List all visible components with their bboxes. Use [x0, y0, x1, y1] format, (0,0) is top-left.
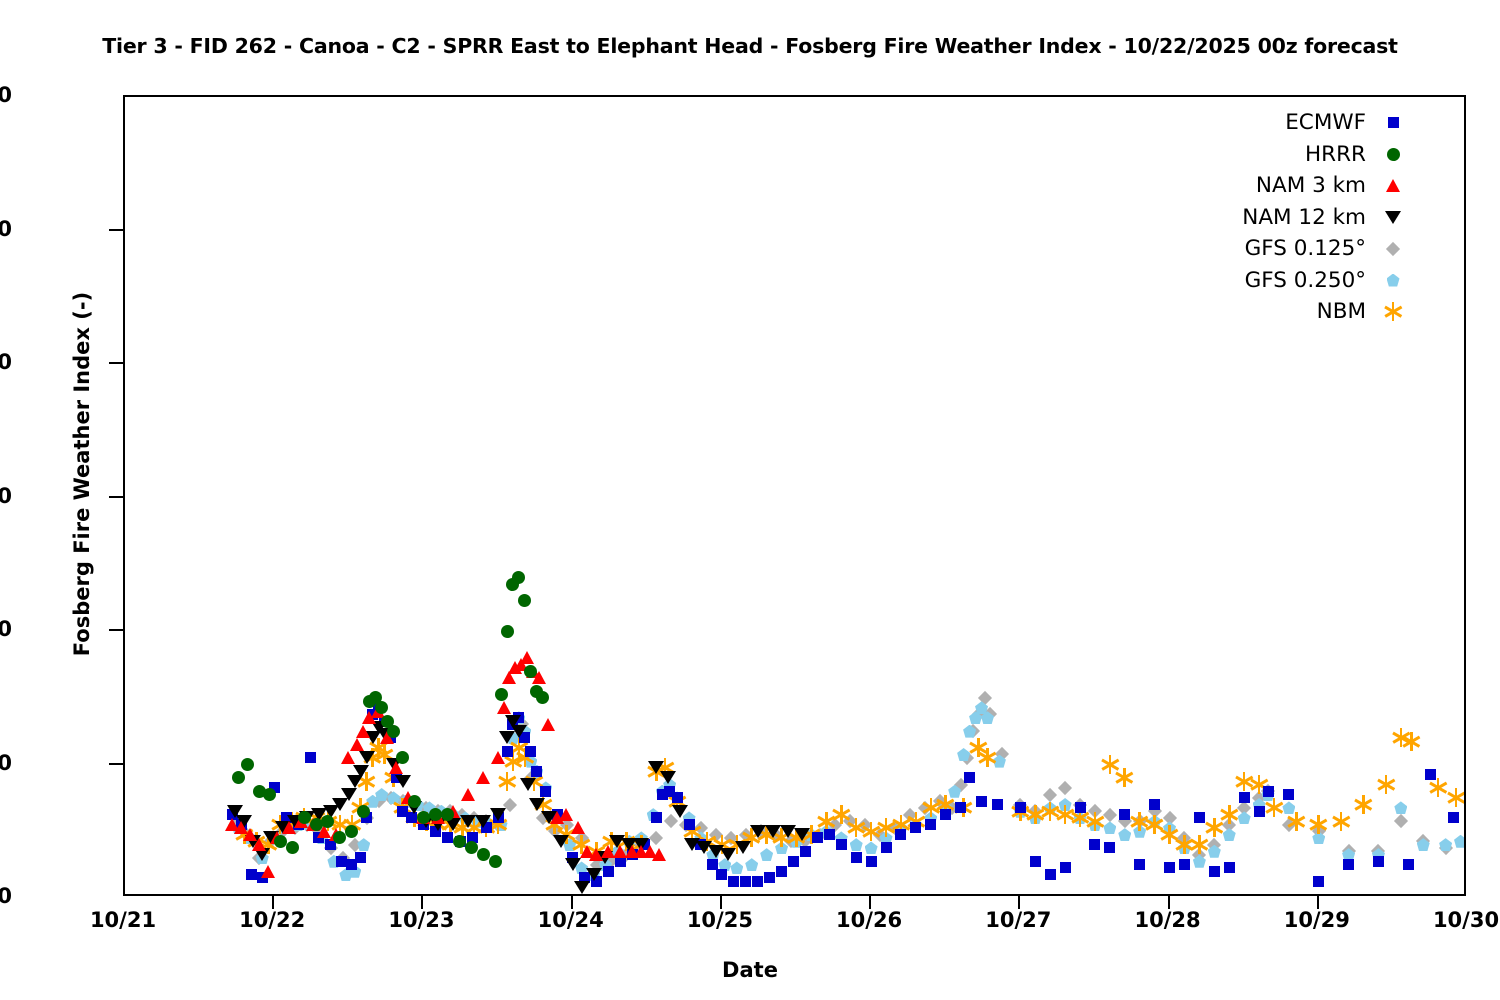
legend-label: HRRR	[1305, 142, 1366, 167]
data-point	[495, 688, 508, 701]
x-tick-mark	[421, 896, 423, 909]
triangle-down-icon	[1385, 211, 1401, 224]
legend-label: NBM	[1317, 299, 1366, 324]
legend-marker-diamond-icon	[1366, 238, 1420, 260]
y-axis-label: Fosberg Fire Weather Index (-)	[70, 74, 94, 874]
legend-item-nam-12-km[interactable]: NAM 12 km	[1150, 203, 1420, 232]
data-point	[241, 758, 254, 771]
legend-marker-square-icon	[1366, 112, 1420, 134]
x-tick-mark	[272, 896, 274, 909]
triangle-up-icon	[1386, 179, 1400, 192]
legend-item-ecmwf[interactable]: ECMWF	[1150, 108, 1420, 137]
y-tick-label: 100	[0, 217, 12, 241]
data-point	[345, 825, 358, 838]
circle-icon	[1387, 148, 1400, 161]
y-tick-label: 120	[0, 83, 12, 107]
legend-label: ECMWF	[1285, 110, 1366, 135]
data-point	[465, 841, 478, 854]
data-point	[524, 665, 537, 678]
data-point	[536, 691, 549, 704]
x-tick-label: 10/27	[985, 908, 1051, 932]
y-tick-mark	[109, 229, 123, 231]
data-point	[387, 725, 400, 738]
legend-item-nam-3-km[interactable]: NAM 3 km	[1150, 171, 1420, 200]
diamond-icon	[1386, 241, 1400, 255]
square-icon	[1388, 117, 1399, 128]
legend-item-gfs-0-250[interactable]: GFS 0.250°	[1150, 266, 1420, 295]
data-point	[501, 625, 514, 638]
legend-label: NAM 12 km	[1242, 205, 1366, 230]
legend-marker-triangle-down-icon	[1366, 206, 1420, 228]
data-point	[441, 808, 454, 821]
legend-label: GFS 0.250°	[1245, 268, 1366, 293]
data-point	[375, 701, 388, 714]
x-tick-label: 10/21	[90, 908, 156, 932]
y-tick-label: 60	[0, 484, 12, 508]
legend-item-hrrr[interactable]: HRRR	[1150, 140, 1420, 169]
data-point	[512, 571, 525, 584]
data-point	[357, 805, 370, 818]
x-tick-mark	[1317, 896, 1319, 909]
x-tick-label: 10/22	[239, 908, 305, 932]
data-point	[396, 751, 409, 764]
legend-marker-triangle-up-icon	[1366, 175, 1420, 197]
data-point	[232, 771, 245, 784]
x-tick-label: 10/28	[1134, 908, 1200, 932]
data-point	[429, 808, 442, 821]
y-tick-mark	[109, 629, 123, 631]
star-icon	[1384, 302, 1403, 321]
data-point	[321, 815, 334, 828]
y-tick-mark	[109, 763, 123, 765]
x-tick-label: 10/24	[538, 908, 604, 932]
data-point	[408, 795, 421, 808]
data-point	[477, 848, 490, 861]
chart-title: Tier 3 - FID 262 - Canoa - C2 - SPRR Eas…	[0, 34, 1500, 58]
legend-label: NAM 3 km	[1256, 173, 1366, 198]
legend-item-nbm[interactable]: NBM	[1150, 297, 1420, 326]
y-tick-mark	[109, 496, 123, 498]
x-tick-label: 10/26	[836, 908, 902, 932]
y-tick-label: 20	[0, 751, 12, 775]
y-tick-mark	[109, 362, 123, 364]
data-point	[518, 594, 531, 607]
x-tick-label: 10/23	[388, 908, 454, 932]
chart-legend: ECMWFHRRRNAM 3 kmNAM 12 kmGFS 0.125°GFS …	[1150, 108, 1420, 329]
x-tick-label: 10/30	[1433, 908, 1499, 932]
x-tick-label: 10/25	[687, 908, 753, 932]
x-tick-label: 10/29	[1284, 908, 1350, 932]
legend-label: GFS 0.125°	[1245, 236, 1366, 261]
pentagon-icon	[1387, 274, 1400, 287]
data-point	[274, 835, 287, 848]
legend-item-gfs-0-125[interactable]: GFS 0.125°	[1150, 234, 1420, 263]
data-point	[298, 811, 311, 824]
data-point	[453, 835, 466, 848]
data-point	[286, 841, 299, 854]
data-point	[417, 811, 430, 824]
legend-marker-star-icon	[1366, 301, 1420, 323]
x-tick-mark	[1018, 896, 1020, 909]
data-point	[489, 855, 502, 868]
legend-marker-pentagon-icon	[1366, 269, 1420, 291]
y-tick-label: 0	[0, 884, 12, 908]
x-tick-mark	[869, 896, 871, 909]
legend-marker-circle-icon	[1366, 143, 1420, 165]
x-tick-mark	[720, 896, 722, 909]
data-point	[263, 788, 276, 801]
y-tick-label: 40	[0, 617, 12, 641]
x-axis-label: Date	[0, 958, 1500, 982]
y-tick-label: 80	[0, 350, 12, 374]
chart-figure: Tier 3 - FID 262 - Canoa - C2 - SPRR Eas…	[0, 0, 1500, 1000]
x-tick-mark	[1168, 896, 1170, 909]
x-tick-mark	[571, 896, 573, 909]
